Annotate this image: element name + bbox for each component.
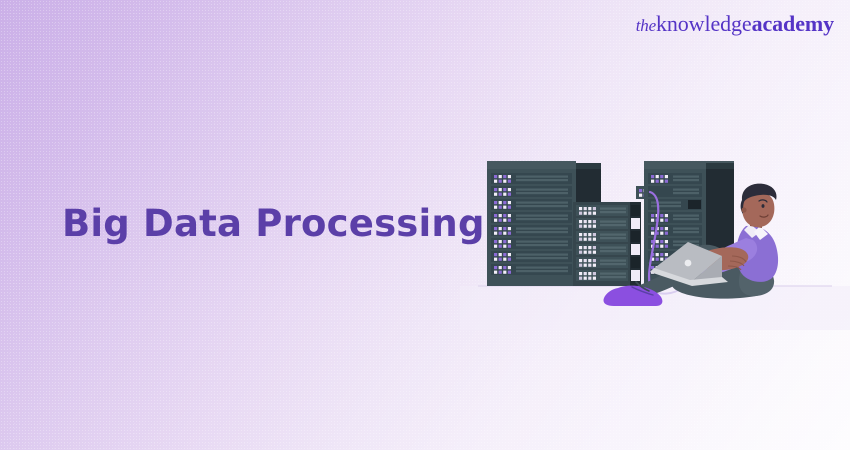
logo-text-the: the	[636, 16, 656, 35]
middle-rack	[573, 202, 641, 286]
banner: theknowledgeacademy Big Data Processing	[0, 0, 850, 450]
illustration-svg	[460, 130, 850, 330]
logo-text-academy: academy	[752, 11, 834, 36]
page-title: Big Data Processing	[62, 204, 485, 245]
logo-text-knowledge: knowledge	[656, 11, 752, 36]
brand-logo[interactable]: theknowledgeacademy	[636, 13, 834, 35]
data-center-illustration	[460, 130, 850, 330]
